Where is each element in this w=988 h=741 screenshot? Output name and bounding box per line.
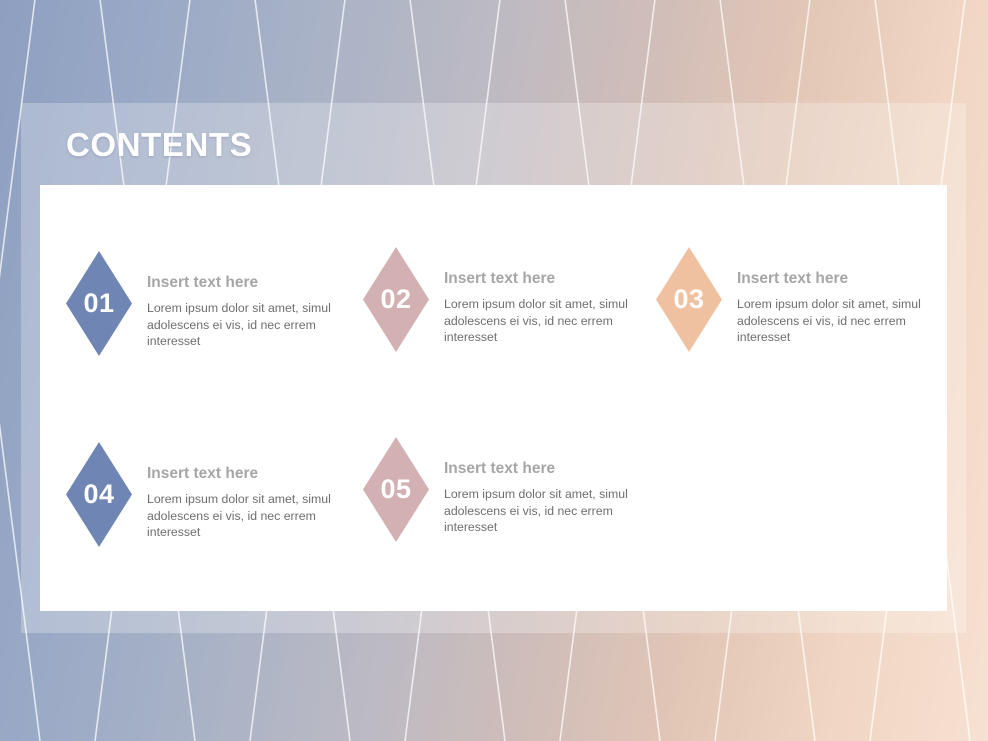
- item-body: Lorem ipsum dolor sit amet, simul adoles…: [444, 296, 644, 346]
- item-text-block: Insert text here Lorem ipsum dolor sit a…: [444, 459, 644, 536]
- item-body: Lorem ipsum dolor sit amet, simul adoles…: [147, 491, 347, 541]
- diamond-icon: [656, 247, 722, 352]
- item-body: Lorem ipsum dolor sit amet, simul adoles…: [147, 300, 347, 350]
- item-text-block: Insert text here Lorem ipsum dolor sit a…: [737, 269, 937, 346]
- diamond-icon: [363, 437, 429, 542]
- item-body: Lorem ipsum dolor sit amet, simul adoles…: [737, 296, 937, 346]
- item-text-block: Insert text here Lorem ipsum dolor sit a…: [147, 464, 347, 541]
- item-heading: Insert text here: [147, 273, 347, 293]
- diamond-icon: [66, 251, 132, 356]
- item-heading: Insert text here: [444, 269, 644, 289]
- item-body: Lorem ipsum dolor sit amet, simul adoles…: [444, 486, 644, 536]
- item-heading: Insert text here: [444, 459, 644, 479]
- item-text-block: Insert text here Lorem ipsum dolor sit a…: [147, 273, 347, 350]
- item-text-block: Insert text here Lorem ipsum dolor sit a…: [444, 269, 644, 346]
- diamond-icon: [363, 247, 429, 352]
- item-heading: Insert text here: [737, 269, 937, 289]
- page-title: CONTENTS: [66, 123, 252, 167]
- content-card: 01 Insert text here Lorem ipsum dolor si…: [40, 185, 947, 611]
- slide-canvas: CONTENTS 01 Insert text here Lorem ipsum…: [0, 0, 988, 741]
- item-heading: Insert text here: [147, 464, 347, 484]
- diamond-icon: [66, 442, 132, 547]
